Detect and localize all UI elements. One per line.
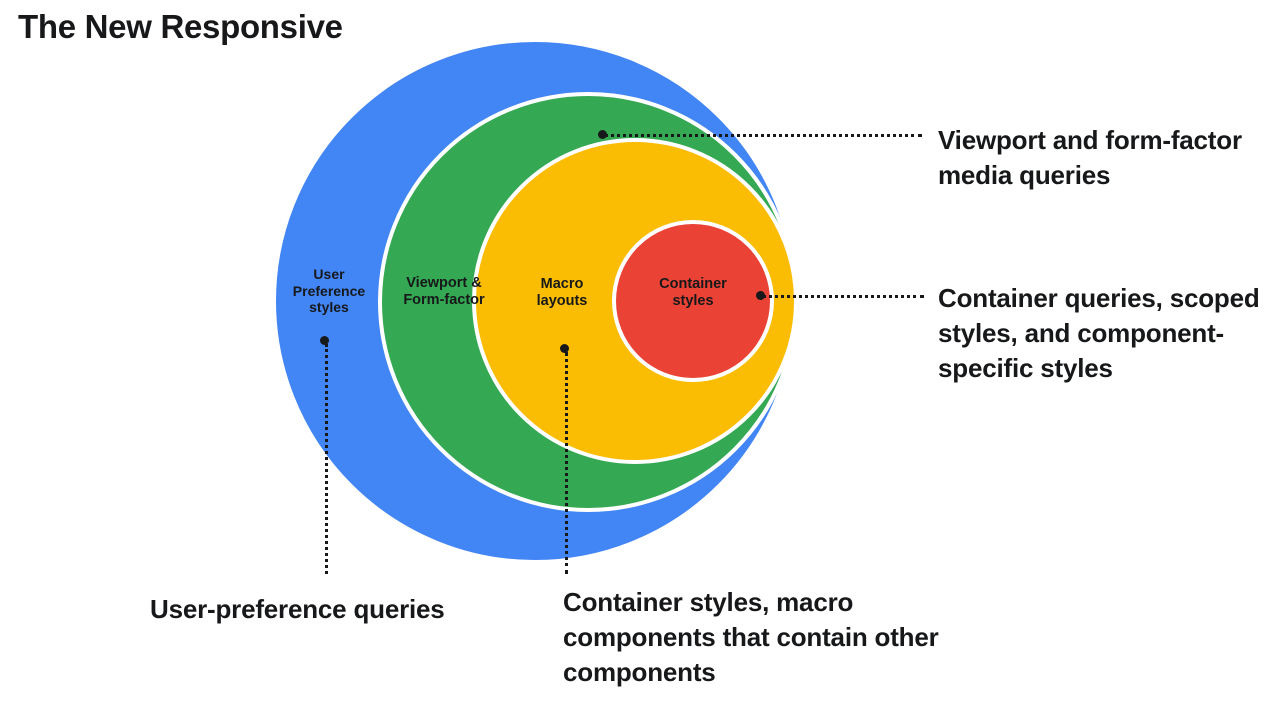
leader-dot-user-preference: [320, 336, 329, 345]
circle-label-user-preference: User Preference styles: [284, 266, 374, 316]
leader-line-user-preference: [325, 344, 328, 574]
circle-label-container-styles: Container styles: [637, 276, 749, 310]
leader-line-viewport: [604, 134, 922, 137]
leader-line-container: [762, 295, 924, 298]
leader-dot-container: [756, 291, 765, 300]
circle-label-viewport-form-factor: Viewport & Form-factor: [385, 275, 503, 309]
leader-dot-macro-layouts: [560, 344, 569, 353]
slide-canvas: The New Responsive User Preference style…: [0, 0, 1280, 707]
circle-label-macro-layouts: Macro layouts: [518, 276, 606, 310]
leader-line-macro-layouts: [565, 352, 568, 574]
callout-macro-components: Container styles, macro components that …: [563, 585, 993, 690]
callout-viewport-media-queries: Viewport and form-factor media queries: [938, 123, 1268, 193]
page-title: The New Responsive: [18, 8, 343, 46]
callout-container-queries: Container queries, scoped styles, and co…: [938, 281, 1274, 386]
callout-user-preference-queries: User-preference queries: [150, 592, 480, 627]
leader-dot-viewport: [598, 130, 607, 139]
